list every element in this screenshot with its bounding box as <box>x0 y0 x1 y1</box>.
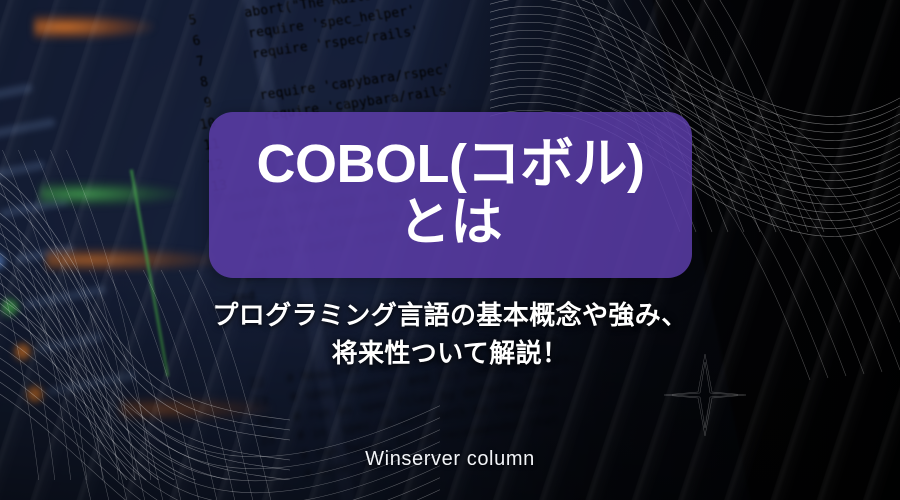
title-line-1: COBOL(コボル) <box>257 137 645 192</box>
subtitle-line-1: プログラミング言語の基本概念や強み、 <box>0 296 900 334</box>
footer-label: Winserver column <box>0 448 900 471</box>
subtitle-line-2: 将来性ついて解説！ <box>0 334 900 372</box>
title-line-2: とは <box>398 196 502 251</box>
title-badge: COBOL(コボル) とは <box>209 112 692 278</box>
subtitle: プログラミング言語の基本概念や強み、 将来性ついて解説！ <box>0 296 900 373</box>
thumbnail-canvas: 5 abort("The Rails environment is runnin… <box>0 0 900 500</box>
